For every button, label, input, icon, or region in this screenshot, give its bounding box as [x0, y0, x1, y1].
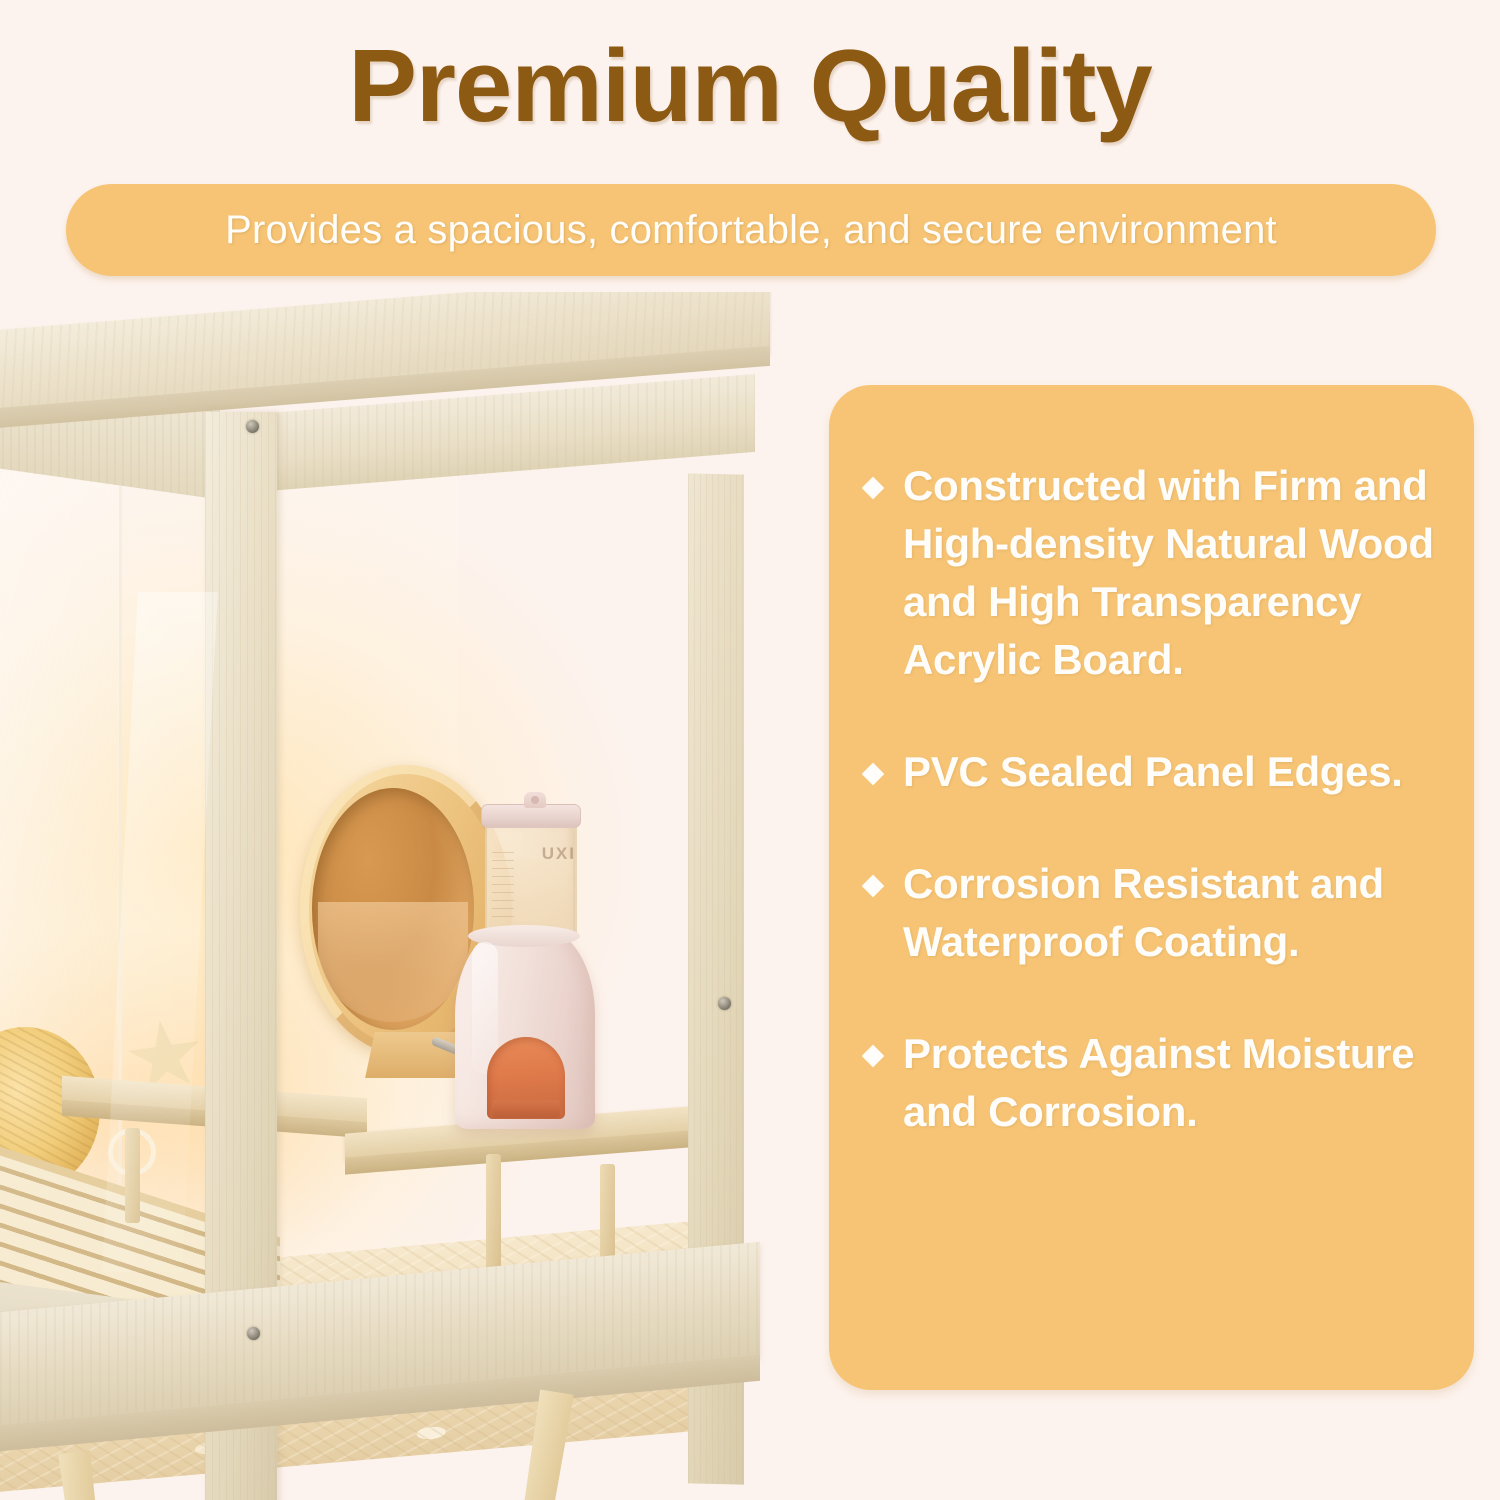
product-photo: IXU [0, 292, 790, 1500]
diamond-bullet-icon [862, 762, 885, 785]
feature-item-text: Protects Against Moisture and Corrosion. [903, 1025, 1444, 1141]
water-bottle-scale [492, 852, 514, 924]
feature-item-text: Constructed with Firm and High-density N… [903, 457, 1444, 689]
subtitle-banner: Provides a spacious, comfortable, and se… [66, 184, 1436, 276]
page-title: Premium Quality [0, 28, 1500, 143]
screw [718, 997, 731, 1010]
platform-leg [486, 1154, 501, 1274]
water-bottle-label: IXU [520, 844, 574, 866]
feature-item: Corrosion Resistant and Waterproof Coati… [861, 855, 1444, 971]
feature-item-text: PVC Sealed Panel Edges. [903, 743, 1403, 801]
screw [247, 1327, 260, 1340]
diamond-bullet-icon [862, 874, 885, 897]
feature-item: Protects Against Moisture and Corrosion. [861, 1025, 1444, 1141]
water-bottle-hang-hole [531, 796, 539, 804]
subtitle-text: Provides a spacious, comfortable, and se… [225, 208, 1277, 253]
feature-item: PVC Sealed Panel Edges. [861, 743, 1444, 801]
feature-item-text: Corrosion Resistant and Waterproof Coati… [903, 855, 1444, 971]
diamond-bullet-icon [862, 477, 885, 500]
screw [246, 420, 259, 433]
ceramic-hideout-floor [492, 1100, 560, 1118]
diamond-bullet-icon [862, 1044, 885, 1067]
feature-item: Constructed with Firm and High-density N… [861, 457, 1444, 689]
feature-list-panel: Constructed with Firm and High-density N… [829, 385, 1474, 1390]
